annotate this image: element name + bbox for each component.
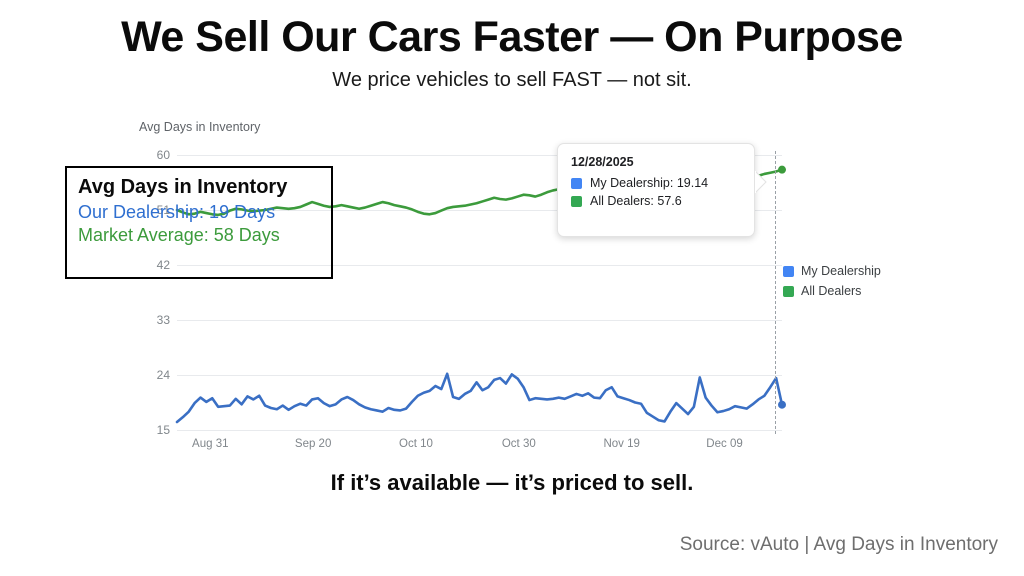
legend-item[interactable]: All Dealers <box>783 284 913 298</box>
chart-tooltip: 12/28/2025 My Dealership: 19.14 All Deal… <box>557 143 755 237</box>
tooltip-swatch-all-dealers <box>571 196 582 207</box>
callout-our-dealership: Our Dealership: 19 Days <box>78 202 320 223</box>
gridline <box>177 430 782 431</box>
source-attribution: Source: vAuto | Avg Days in Inventory <box>680 534 998 556</box>
tooltip-row: My Dealership: 19.14 <box>571 176 741 190</box>
callout-box: Avg Days in Inventory Our Dealership: 19… <box>65 166 333 279</box>
callout-market-average: Market Average: 58 Days <box>78 225 320 246</box>
callout-title: Avg Days in Inventory <box>78 176 320 199</box>
series-endpoint-my-dealership <box>778 401 786 409</box>
legend-swatch-icon <box>783 286 794 297</box>
x-axis-tick-label: Dec 09 <box>706 438 742 450</box>
legend-item[interactable]: My Dealership <box>783 264 913 278</box>
chart-title: Avg Days in Inventory <box>139 120 260 134</box>
y-axis-tick-label: 33 <box>157 313 170 327</box>
tooltip-pointer-icon <box>755 171 768 193</box>
chart-crosshair <box>775 151 776 434</box>
page-title: We Sell Our Cars Faster — On Purpose <box>0 14 1024 60</box>
page-subtitle: We price vehicles to sell FAST — not sit… <box>0 69 1024 92</box>
tooltip-swatch-my-dealership <box>571 178 582 189</box>
slide-root: We Sell Our Cars Faster — On Purpose We … <box>0 0 1024 576</box>
tooltip-label-my-dealership: My Dealership: 19.14 <box>590 176 708 190</box>
x-axis-tick-label: Nov 19 <box>603 438 639 450</box>
chart-legend: My DealershipAll Dealers <box>783 264 913 304</box>
y-axis-tick-label: 60 <box>157 148 170 162</box>
y-axis-tick-label: 15 <box>157 423 170 437</box>
x-axis-tick-label: Oct 30 <box>502 438 536 450</box>
legend-label: My Dealership <box>801 264 881 278</box>
tooltip-date: 12/28/2025 <box>571 155 741 169</box>
closing-statement: If it’s available — it’s priced to sell. <box>0 470 1024 496</box>
tooltip-row: All Dealers: 57.6 <box>571 194 741 208</box>
legend-label: All Dealers <box>801 284 861 298</box>
series-line-my-dealership <box>177 374 782 422</box>
x-axis-tick-label: Oct 10 <box>399 438 433 450</box>
y-axis-tick-label: 24 <box>157 368 170 382</box>
series-endpoint-all-dealers <box>778 166 786 174</box>
legend-swatch-icon <box>783 266 794 277</box>
tooltip-label-all-dealers: All Dealers: 57.6 <box>590 194 682 208</box>
x-axis-tick-label: Aug 31 <box>192 438 228 450</box>
x-axis-tick-label: Sep 20 <box>295 438 331 450</box>
